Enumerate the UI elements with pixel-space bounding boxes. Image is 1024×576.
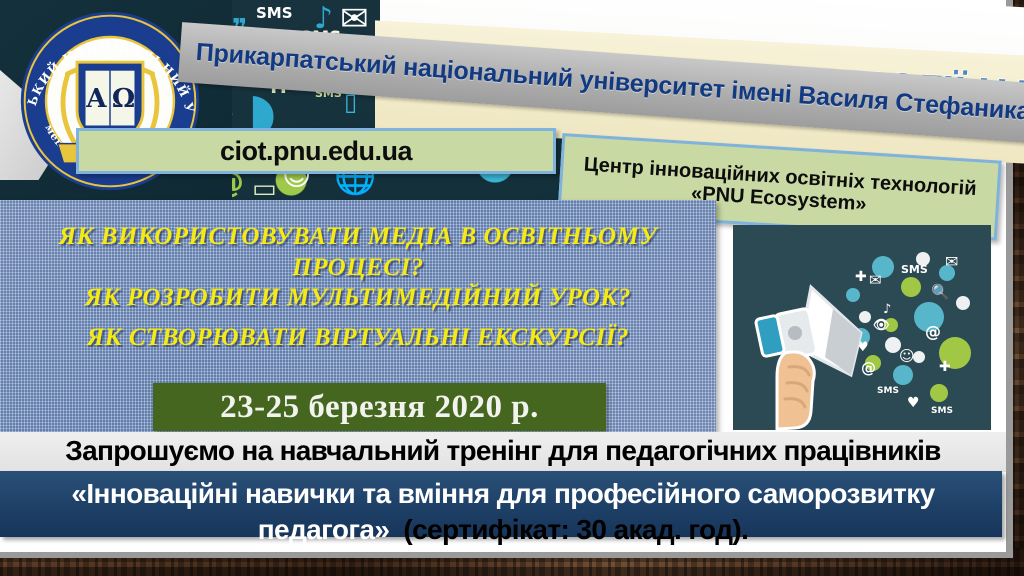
event-date-strip: 23-25 березня 2020 р. xyxy=(153,383,606,431)
certificate-note: (сертифікат: 30 акад. год). xyxy=(403,514,748,546)
svg-text:🔍: 🔍 xyxy=(931,282,950,301)
course-title-line: «Інноваційні навички та вміння для профе… xyxy=(0,474,1006,514)
monitor-icon: ▭ xyxy=(252,176,277,202)
poster-canvas: SMS SMS SMS SMS ✉ ♪ ❞ ☺ ∩ ✚ ✚ 👍 ◗ ← ▯ @ … xyxy=(0,0,1024,576)
svg-text:@: @ xyxy=(925,322,941,341)
svg-text:♥: ♥ xyxy=(907,395,920,411)
svg-text:✉: ✉ xyxy=(869,271,882,289)
course-title-end-row: педагога» (сертифікат: 30 акад. год). xyxy=(0,510,1006,550)
poster-page: SMS SMS SMS SMS ✉ ♪ ❞ ☺ ∩ ✚ ✚ 👍 ◗ ← ▯ @ … xyxy=(0,0,1006,552)
envelope-icon: ✉ xyxy=(340,2,369,36)
megaphone-illustration: SMS SMS SMS @ @ ✉ ✉ ♪ ♥ ♥ ✚ ✚ ☺ 👁 🔍 xyxy=(733,225,991,430)
svg-text:✉: ✉ xyxy=(945,252,958,271)
website-url-text[interactable]: ciot.pnu.edu.ua xyxy=(220,136,412,167)
svg-text:Ω: Ω xyxy=(112,83,135,114)
svg-text:SMS: SMS xyxy=(877,386,899,396)
question-line: ЯК РОЗРОБИТИ МУЛЬТИМЕДІЙНИЙ УРОК? xyxy=(0,283,716,314)
question-line: ЯК ВИКОРИСТОВУВАТИ МЕДІА В ОСВІТНЬОМУ xyxy=(0,222,716,253)
course-title-end: педагога» xyxy=(258,514,390,546)
svg-text:SMS: SMS xyxy=(901,263,928,276)
questions-list: ЯК ВИКОРИСТОВУВАТИ МЕДІА В ОСВІТНЬОМУ ПР… xyxy=(0,222,716,353)
svg-text:👁: 👁 xyxy=(873,318,890,333)
svg-text:SMS: SMS xyxy=(931,406,953,416)
question-line: ЯК СТВОРЮВАТИ ВІРТУАЛЬНІ ЕКСКУРСІЇ? xyxy=(0,323,716,354)
svg-text:✚: ✚ xyxy=(939,359,951,375)
question-line: ПРОЦЕСІ? xyxy=(0,253,716,284)
svg-text:Α: Α xyxy=(85,83,107,114)
event-date-text: 23-25 березня 2020 р. xyxy=(220,389,539,426)
spacer xyxy=(0,314,716,323)
sms-icon: SMS xyxy=(256,6,293,21)
svg-text:☺: ☺ xyxy=(899,347,915,365)
svg-text:✚: ✚ xyxy=(855,269,867,285)
svg-text:♪: ♪ xyxy=(883,302,891,317)
website-url-box[interactable]: ciot.pnu.edu.ua xyxy=(76,128,556,174)
svg-text:@: @ xyxy=(861,359,876,377)
music-note-icon: ♪ xyxy=(314,4,333,34)
invite-line: Запрошуємо на навчальний тренінг для пед… xyxy=(0,430,1006,472)
